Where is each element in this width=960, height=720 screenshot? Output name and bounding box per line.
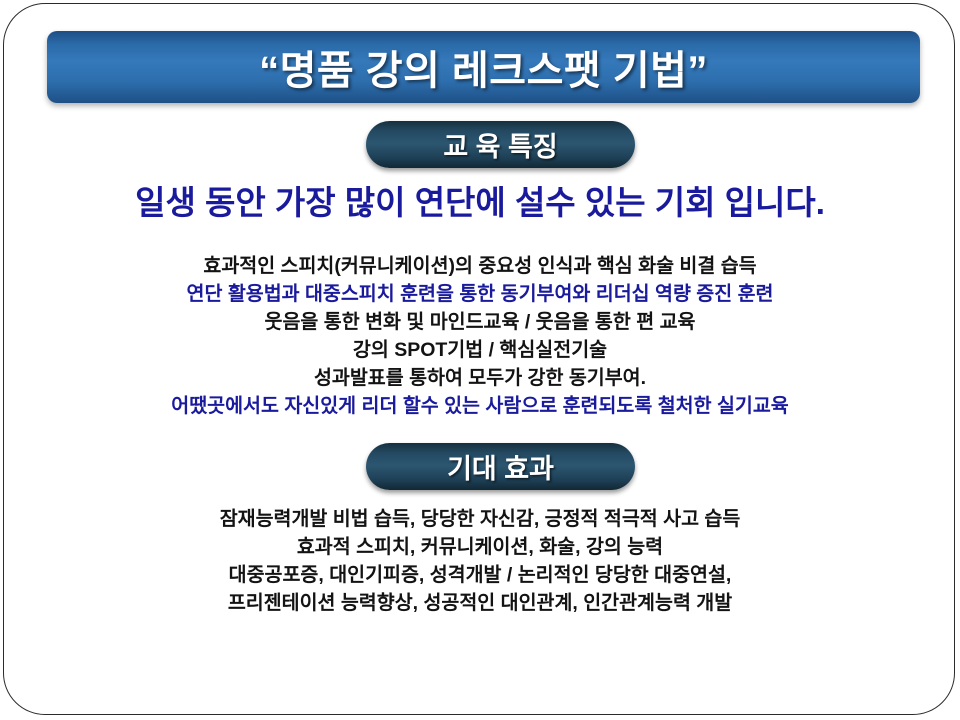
education-line: 효과적인 스피치(커뮤니케이션)의 중요성 인식과 핵심 화술 비결 습득 bbox=[0, 252, 960, 280]
education-line: 어땠곳에서도 자신있게 리더 할수 있는 사람으로 훈련되도록 철처한 실기교육 bbox=[0, 392, 960, 420]
education-line: 웃음을 통한 변화 및 마인드교육 / 웃음을 통한 편 교육 bbox=[0, 308, 960, 336]
section-header-education: 교 육 특징 bbox=[366, 121, 635, 168]
slide-title-banner: “명품 강의 레크스팻 기법” bbox=[47, 31, 920, 103]
education-line: 강의 SPOT기법 / 핵심실전기술 bbox=[0, 336, 960, 364]
section-header-education-label: 교 육 특징 bbox=[443, 125, 557, 164]
effect-line: 대중공포증, 대인기피증, 성격개발 / 논리적인 당당한 대중연설, bbox=[0, 561, 960, 589]
presentation-slide: “명품 강의 레크스팻 기법” 교 육 특징 일생 동안 가장 많이 연단에 설… bbox=[0, 0, 960, 720]
education-body-text: 효과적인 스피치(커뮤니케이션)의 중요성 인식과 핵심 화술 비결 습득 연단… bbox=[0, 252, 960, 420]
education-line: 성과발표를 통하여 모두가 강한 동기부여. bbox=[0, 364, 960, 392]
effect-line: 효과적 스피치, 커뮤니케이션, 화술, 강의 능력 bbox=[0, 533, 960, 561]
education-headline: 일생 동안 가장 많이 연단에 설수 있는 기회 입니다. bbox=[0, 176, 960, 224]
section-header-effect-label: 기대 효과 bbox=[447, 447, 554, 486]
education-line: 연단 활용법과 대중스피치 훈련을 통한 동기부여와 리더십 역량 증진 훈련 bbox=[0, 280, 960, 308]
section-header-effect: 기대 효과 bbox=[366, 443, 635, 490]
effect-line: 잠재능력개발 비법 습득, 당당한 자신감, 긍정적 적극적 사고 습득 bbox=[0, 505, 960, 533]
effect-line: 프리젠테이션 능력향상, 성공적인 대인관계, 인간관계능력 개발 bbox=[0, 589, 960, 617]
effect-body-text: 잠재능력개발 비법 습득, 당당한 자신감, 긍정적 적극적 사고 습득 효과적… bbox=[0, 505, 960, 617]
slide-title-text: “명품 강의 레크스팻 기법” bbox=[259, 38, 708, 96]
